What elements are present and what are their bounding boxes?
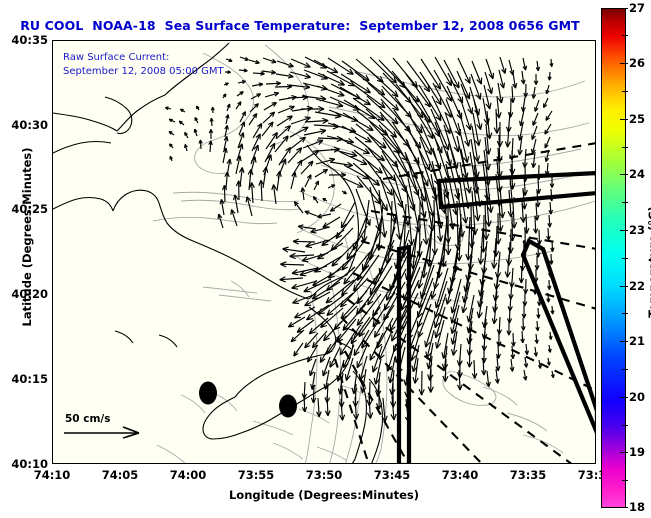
figure-title: RU COOL NOAA-18 Sea Surface Temperature:… — [0, 18, 600, 33]
station-markers — [199, 382, 297, 418]
sst-figure: RU COOL NOAA-18 Sea Surface Temperature:… — [0, 0, 651, 518]
colorbar-label: Temperature (°C) — [646, 137, 651, 387]
current-annotation-line2: September 12, 2008 05:00 GMT — [63, 66, 224, 77]
ctick-18: 18 — [629, 500, 645, 514]
vector-scale-key: 50 cm/s — [61, 413, 157, 445]
ctick-25: 25 — [629, 112, 645, 126]
xtick-3: 73:55 — [238, 468, 275, 482]
arrow-right-icon — [61, 425, 153, 441]
ctick-19: 19 — [629, 445, 645, 459]
map-plot-area[interactable]: Raw Surface Current: September 12, 2008 … — [52, 40, 596, 464]
ytick-5: 40:35 — [2, 33, 48, 47]
ctick-23: 23 — [629, 223, 645, 237]
xtick-1: 74:05 — [102, 468, 139, 482]
ctick-26: 26 — [629, 56, 645, 70]
ctick-21: 21 — [629, 334, 645, 348]
station-marker-1 — [199, 382, 217, 405]
xtick-2: 74:00 — [170, 468, 207, 482]
lane-polygon-lower — [523, 241, 596, 433]
x-axis-label: Longitude (Degrees:Minutes) — [52, 488, 596, 502]
xtick-6: 73:40 — [442, 468, 479, 482]
ctick-20: 20 — [629, 390, 645, 404]
station-marker-2 — [279, 395, 297, 418]
map-overlay-graphics — [53, 41, 596, 464]
ctick-22: 22 — [629, 279, 645, 293]
coastline — [53, 43, 383, 464]
current-annotation: Raw Surface Current: September 12, 2008 … — [63, 51, 224, 79]
xtick-7: 73:35 — [510, 468, 547, 482]
ytick-1: 40:15 — [2, 372, 48, 386]
xtick-5: 73:45 — [374, 468, 411, 482]
ctick-27: 27 — [629, 1, 645, 15]
ctick-24: 24 — [629, 167, 645, 181]
y-axis-label: Latitude (Degrees:Minutes) — [20, 117, 34, 357]
ytick-0: 40:10 — [2, 457, 48, 471]
current-annotation-line1: Raw Surface Current: — [63, 52, 169, 63]
vector-scale-label: 50 cm/s — [65, 413, 157, 425]
surface-current-vectors — [165, 57, 554, 423]
xtick-4: 73:50 — [306, 468, 343, 482]
sst-contour-lines — [153, 45, 595, 464]
